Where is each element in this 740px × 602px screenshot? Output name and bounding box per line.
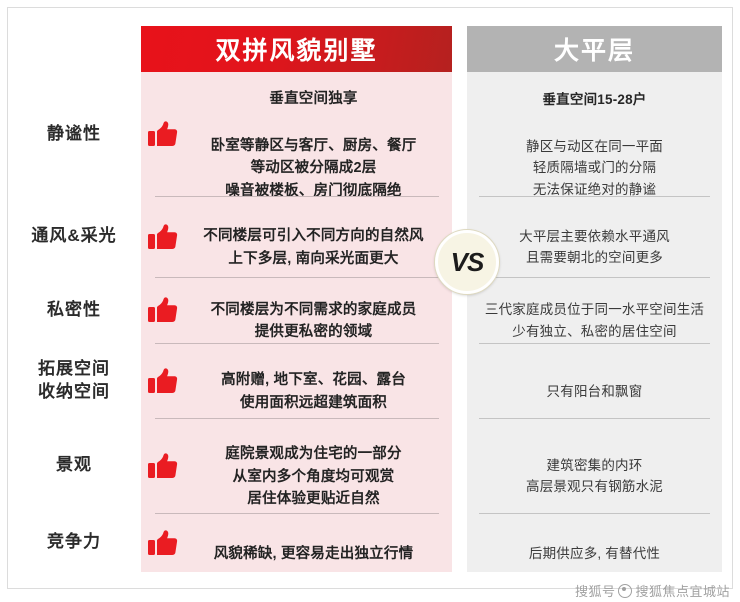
row-divider — [479, 343, 710, 344]
thumbs-up-icon — [147, 366, 179, 396]
row-divider — [155, 513, 439, 514]
table-row: 竞争力 风貌稀缺, 更容易走出独立行情 后期供应多, 有替代性 — [0, 513, 740, 572]
table-row: 景观 庭院景观成为住宅的一部分 从室内多个角度均可观赏 居住体验更贴近自然 建筑… — [0, 418, 740, 513]
row-villa-text: 不同楼层为不同需求的家庭成员 提供更私密的领域 — [181, 276, 452, 343]
row-flat-body: 静区与动区在同一平面 轻质隔墙或门的分隔 无法保证绝对的静谧 — [526, 139, 663, 198]
row-flat-body: 只有阳台和飘窗 — [547, 384, 643, 399]
row-flat-text: 后期供应多, 有替代性 — [529, 521, 660, 565]
thumbs-up-icon — [147, 295, 179, 325]
row-villa-body: 庭院景观成为住宅的一部分 从室内多个角度均可观赏 居住体验更贴近自然 — [225, 446, 401, 507]
row-flat-body: 三代家庭成员位于同一水平空间生活 少有独立、私密的居住空间 — [485, 302, 704, 339]
comparison-infographic: 双拼风貌别墅 大平层 静谧性 垂直空间独享 卧室等静区与客厅、厨房、餐厅 等动区… — [0, 0, 740, 602]
row-villa-body: 高附赠, 地下室、花园、露台 使用面积远超建筑面积 — [221, 372, 406, 410]
row-divider — [155, 343, 439, 344]
row-flat-cell: 三代家庭成员位于同一水平空间生活 少有独立、私密的居住空间 — [467, 277, 722, 343]
row-flat-cell: 只有阳台和飘窗 — [467, 343, 722, 418]
row-flat-text: 三代家庭成员位于同一水平空间生活 少有独立、私密的居住空间 — [485, 277, 704, 343]
row-villa-cell: 风貌稀缺, 更容易走出独立行情 — [141, 513, 452, 572]
row-label: 竞争力 — [7, 513, 141, 572]
row-label: 私密性 — [7, 277, 141, 343]
row-flat-text: 建筑密集的内环 高层景观只有钢筋水泥 — [526, 433, 663, 499]
comparison-rows: 静谧性 垂直空间独享 卧室等静区与客厅、厨房、餐厅 等动区被分隔成2层 噪音被楼… — [0, 72, 740, 572]
row-villa-cell: 垂直空间独享 卧室等静区与客厅、厨房、餐厅 等动区被分隔成2层 噪音被楼板、房门… — [141, 72, 452, 196]
row-divider — [479, 196, 710, 197]
watermark-suffix: 搜狐焦点宜城站 — [635, 581, 730, 600]
thumbs-up-icon — [147, 222, 179, 252]
row-flat-cell: 大平层主要依赖水平通风 且需要朝北的空间更多 — [467, 196, 722, 277]
row-villa-lead: 垂直空间独享 — [181, 88, 446, 110]
column-flat-header: 大平层 — [467, 26, 722, 72]
row-villa-text: 高附赠, 地下室、花园、露台 使用面积远超建筑面积 — [181, 347, 452, 414]
row-divider — [155, 277, 439, 278]
row-label: 通风&采光 — [7, 196, 141, 277]
row-divider — [155, 418, 439, 419]
row-villa-text: 庭院景观成为住宅的一部分 从室内多个角度均可观赏 居住体验更贴近自然 — [181, 421, 452, 511]
row-label: 静谧性 — [7, 72, 141, 196]
row-villa-cell: 不同楼层可引入不同方向的自然风 上下多层, 南向采光面更大 — [141, 196, 452, 277]
row-flat-body: 建筑密集的内环 高层景观只有钢筋水泥 — [526, 458, 663, 495]
row-villa-text: 风貌稀缺, 更容易走出独立行情 — [181, 520, 452, 565]
row-label: 景观 — [7, 418, 141, 513]
table-row: 静谧性 垂直空间独享 卧室等静区与客厅、厨房、餐厅 等动区被分隔成2层 噪音被楼… — [0, 72, 740, 196]
thumbs-up-icon — [147, 451, 179, 481]
thumbs-up-icon — [147, 528, 179, 558]
row-divider — [479, 513, 710, 514]
row-villa-text: 垂直空间独享 卧室等静区与客厅、厨房、餐厅 等动区被分隔成2层 噪音被楼板、房门… — [181, 66, 452, 203]
row-flat-cell: 垂直空间15-28户 静区与动区在同一平面 轻质隔墙或门的分隔 无法保证绝对的静… — [467, 72, 722, 196]
row-villa-body: 风貌稀缺, 更容易走出独立行情 — [214, 546, 414, 562]
table-row: 私密性 不同楼层为不同需求的家庭成员 提供更私密的领域 三代家庭成员位于同一水平… — [0, 277, 740, 343]
watermark: 搜狐号 搜狐焦点宜城站 — [575, 581, 730, 600]
row-villa-body: 不同楼层为不同需求的家庭成员 提供更私密的领域 — [211, 302, 417, 340]
watermark-prefix: 搜狐号 — [575, 581, 616, 600]
row-divider — [479, 418, 710, 419]
row-villa-body: 不同楼层可引入不同方向的自然风 上下多层, 南向采光面更大 — [203, 228, 424, 266]
table-row: 通风&采光 不同楼层可引入不同方向的自然风 上下多层, 南向采光面更大 大平层主… — [0, 196, 740, 277]
row-flat-cell: 后期供应多, 有替代性 — [467, 513, 722, 572]
thumbs-up-icon — [147, 119, 179, 149]
row-flat-text: 垂直空间15-28户 静区与动区在同一平面 轻质隔墙或门的分隔 无法保证绝对的静… — [526, 67, 663, 201]
row-flat-lead: 垂直空间15-28户 — [526, 89, 663, 111]
row-villa-cell: 不同楼层为不同需求的家庭成员 提供更私密的领域 — [141, 277, 452, 343]
row-villa-cell: 庭院景观成为住宅的一部分 从室内多个角度均可观赏 居住体验更贴近自然 — [141, 418, 452, 513]
row-divider — [479, 277, 710, 278]
row-flat-body: 大平层主要依赖水平通风 且需要朝北的空间更多 — [519, 229, 670, 266]
row-flat-text: 只有阳台和飘窗 — [547, 359, 643, 403]
row-villa-cell: 高附赠, 地下室、花园、露台 使用面积远超建筑面积 — [141, 343, 452, 418]
table-row: 拓展空间 收纳空间 高附赠, 地下室、花园、露台 使用面积远超建筑面积 只有阳台… — [0, 343, 740, 418]
sohu-logo-icon — [618, 584, 632, 598]
row-flat-text: 大平层主要依赖水平通风 且需要朝北的空间更多 — [519, 204, 670, 270]
row-flat-cell: 建筑密集的内环 高层景观只有钢筋水泥 — [467, 418, 722, 513]
row-flat-body: 后期供应多, 有替代性 — [529, 546, 660, 561]
vs-badge: VS — [435, 230, 499, 294]
row-divider — [155, 196, 439, 197]
row-villa-body: 卧室等静区与客厅、厨房、餐厅 等动区被分隔成2层 噪音被楼板、房门彻底隔绝 — [211, 138, 417, 199]
row-label: 拓展空间 收纳空间 — [7, 343, 141, 418]
row-villa-text: 不同楼层可引入不同方向的自然风 上下多层, 南向采光面更大 — [181, 203, 452, 270]
